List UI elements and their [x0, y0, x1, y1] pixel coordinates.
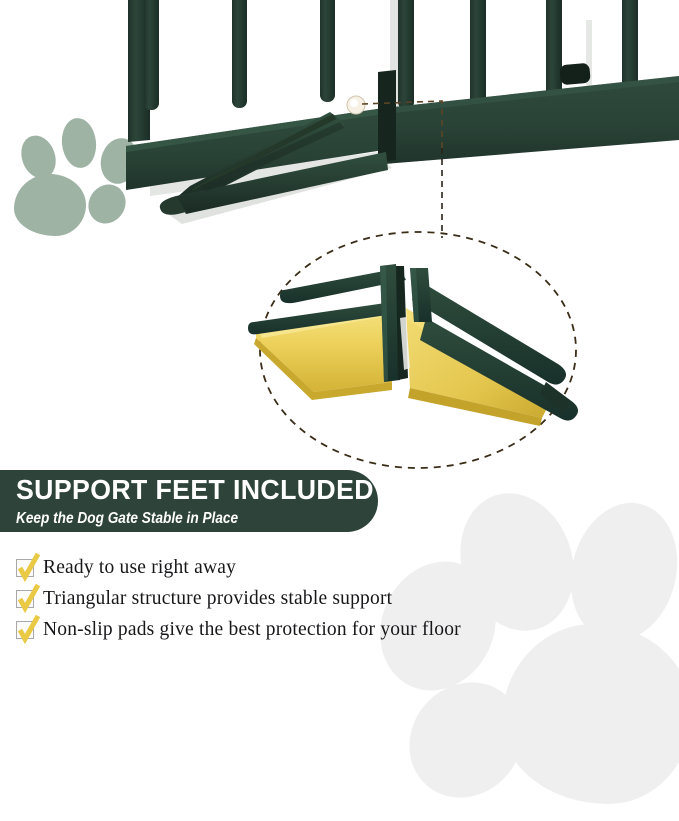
- feature-list: Ready to use right away Triangular struc…: [16, 552, 656, 645]
- feature-label: Triangular structure provides stable sup…: [43, 588, 392, 610]
- banner-subtitle: Keep the Dog Gate Stable in Place: [16, 511, 335, 527]
- check-mark-icon: [16, 614, 42, 644]
- text-content-layer: SUPPORT FEET INCLUDED Keep the Dog Gate …: [0, 0, 679, 679]
- checkbox-checked-icon: [16, 590, 34, 608]
- feature-label: Non-slip pads give the best protection f…: [43, 619, 461, 641]
- banner-title: SUPPORT FEET INCLUDED: [16, 476, 367, 504]
- feature-item: Triangular structure provides stable sup…: [16, 583, 656, 614]
- product-marketing-image: SUPPORT FEET INCLUDED Keep the Dog Gate …: [0, 0, 679, 679]
- check-mark-icon: [16, 552, 42, 582]
- feature-item: Non-slip pads give the best protection f…: [16, 614, 656, 645]
- feature-label: Ready to use right away: [43, 557, 236, 579]
- checkbox-checked-icon: [16, 621, 34, 639]
- check-mark-icon: [16, 583, 42, 613]
- checkbox-checked-icon: [16, 559, 34, 577]
- promo-banner: SUPPORT FEET INCLUDED Keep the Dog Gate …: [0, 470, 378, 532]
- feature-item: Ready to use right away: [16, 552, 656, 583]
